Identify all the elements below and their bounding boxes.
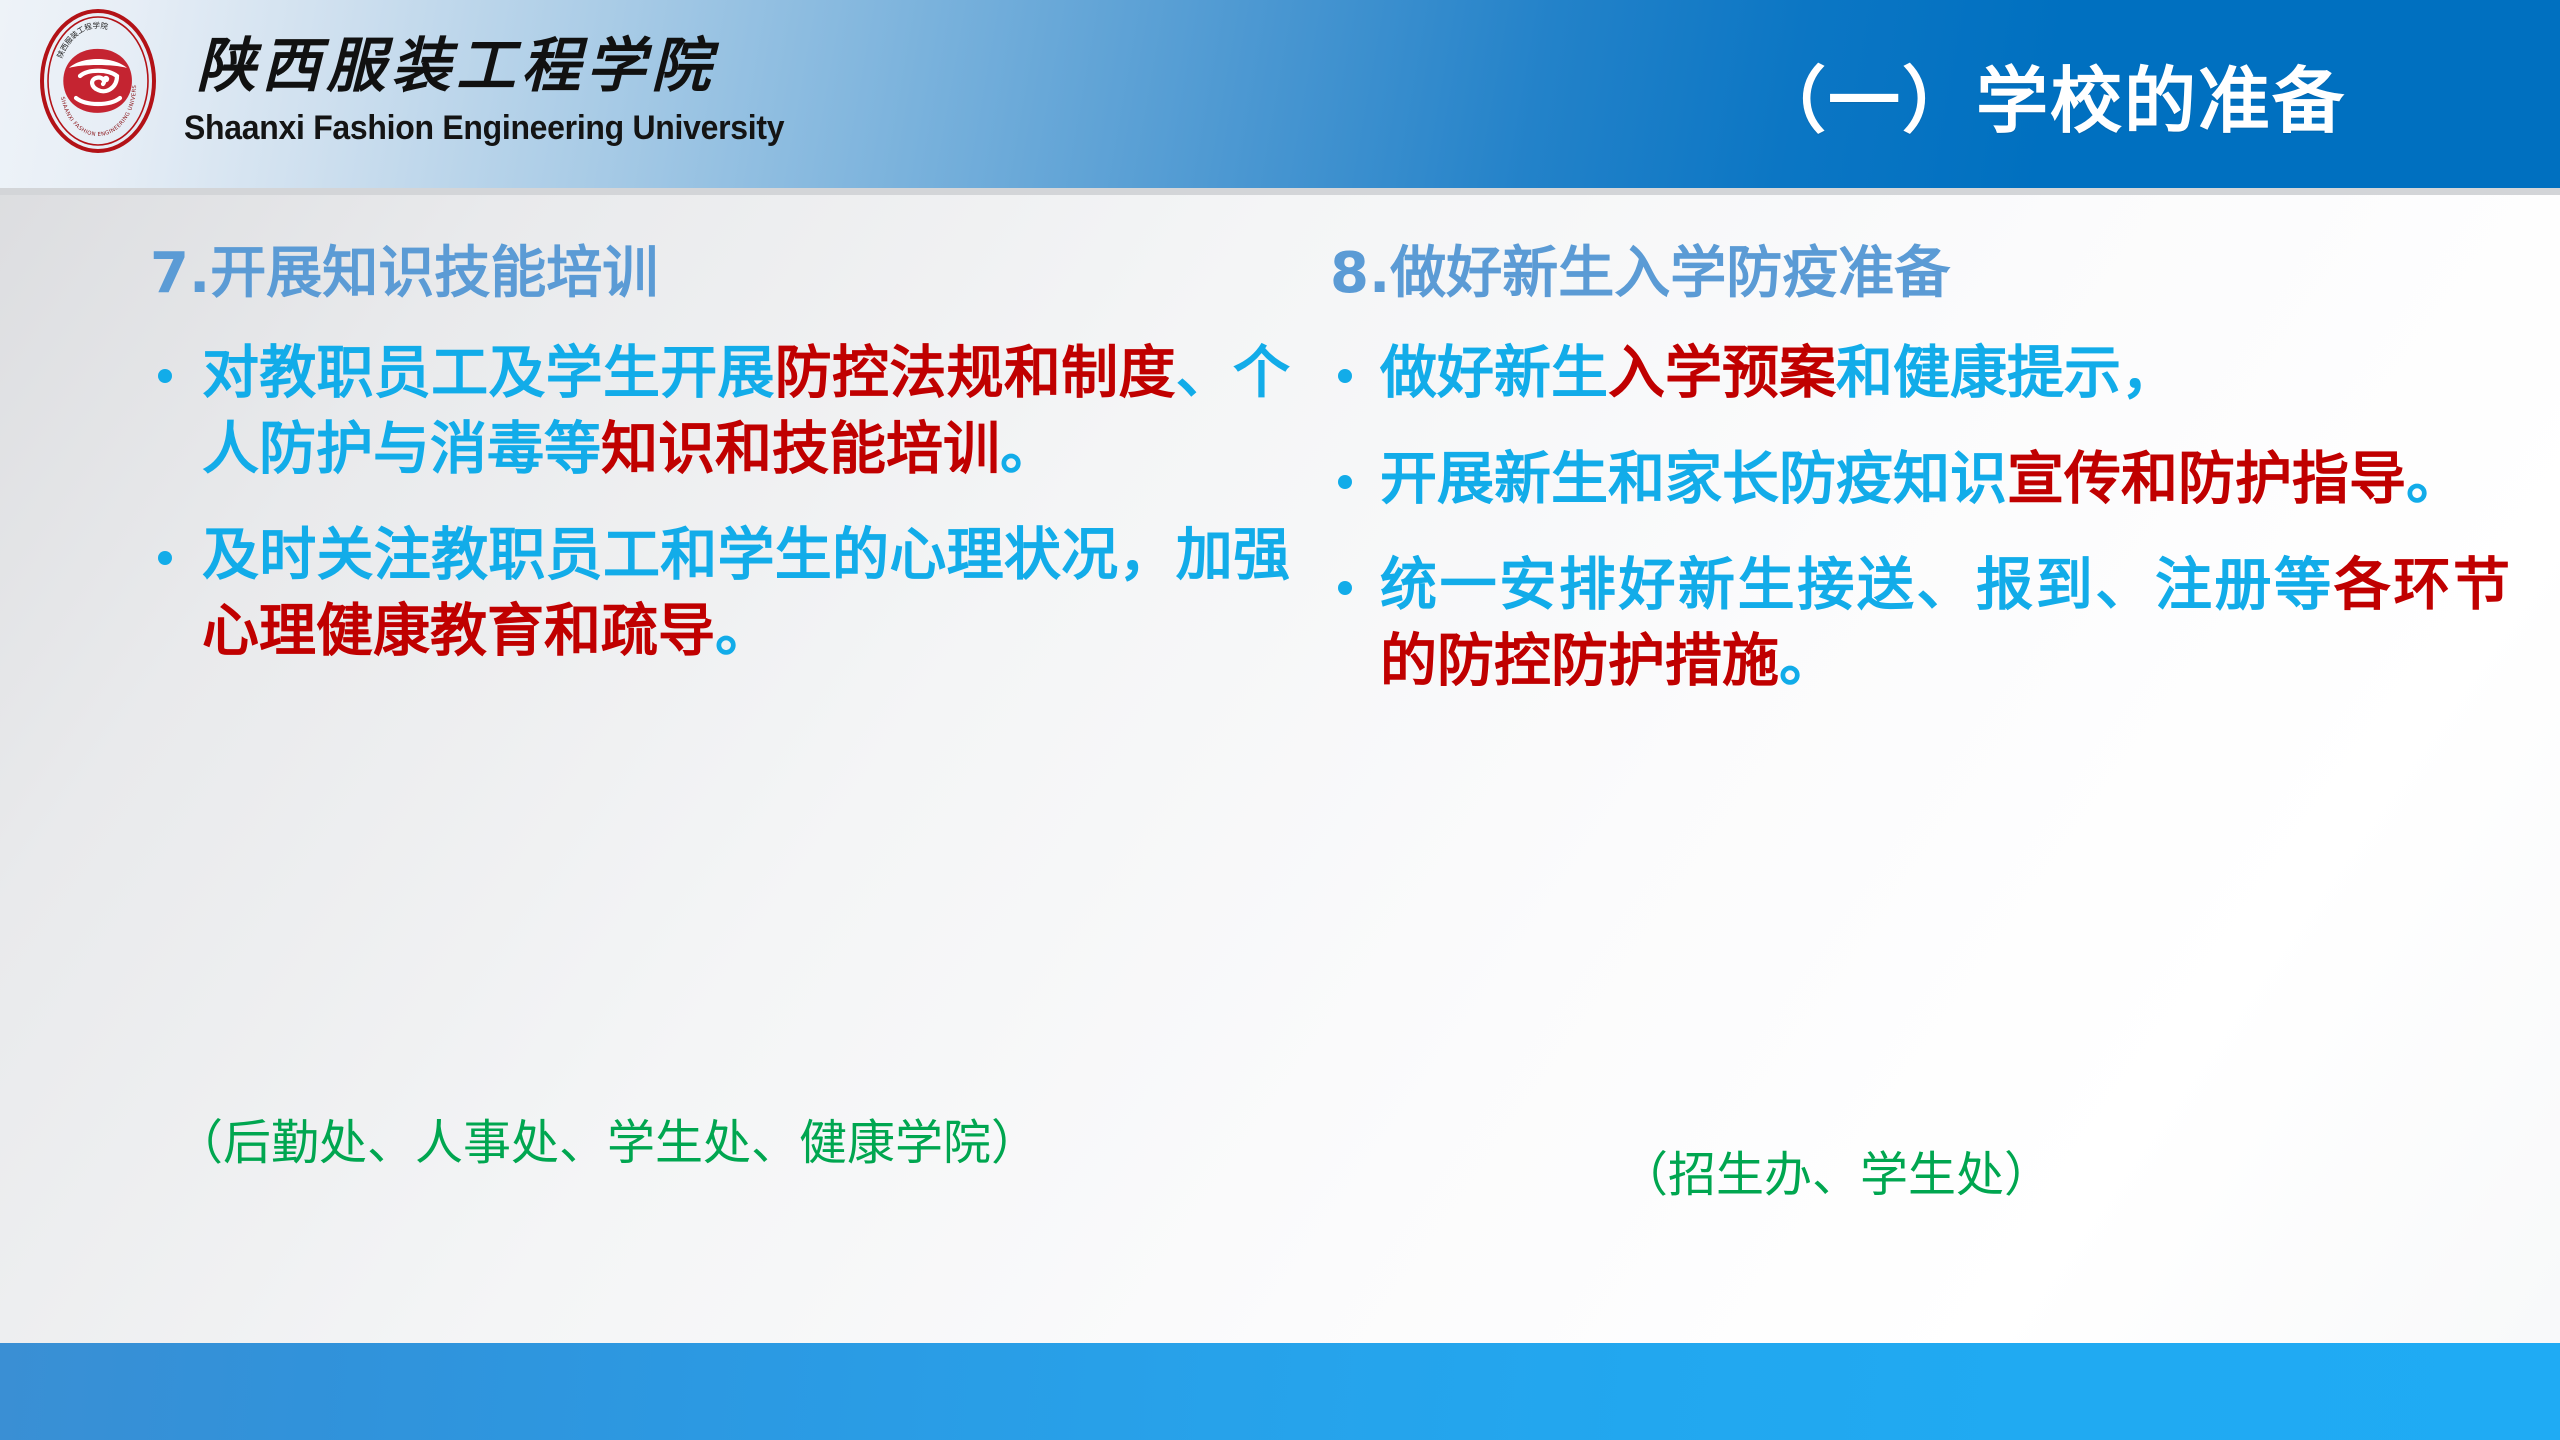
slide: 陕西服装工程学院 SHAANXI FASHION ENGINEERING UNI… (0, 0, 2560, 1440)
list-item: 对教职员工及学生开展防控法规和制度、个人防护与消毒等知识和技能培训。 (150, 336, 1290, 488)
list-item: 开展新生和家长防疫知识宣传和防护指导。 (1330, 442, 2510, 518)
decorative-bottom-bar (0, 1343, 2560, 1440)
header-divider (0, 188, 2560, 195)
content-column-right: 8.做好新生入学防疫准备 做好新生入学预案和健康提示， 开展新生和家长防疫知识宣… (1330, 195, 2510, 700)
text-segment: 。 (2406, 446, 2463, 512)
text-segment: 。 (1000, 416, 1057, 482)
department-note-right: （招生办、学生处） (1620, 1135, 2052, 1205)
department-note-left: （后勤处、人事处、学生处、健康学院） (175, 1103, 1039, 1173)
university-name-cn-text: 陕西服装工程学院 (196, 30, 720, 100)
column-right-heading: 8.做好新生入学防疫准备 (1330, 242, 2510, 306)
text-segment-emphasis: 入学预案 (1608, 340, 1836, 406)
text-segment-emphasis: 防控法规和制度 (775, 340, 1176, 406)
list-item: 统一安排好新生接送、报到、注册等各环节的防控防护措施。 (1330, 548, 2510, 700)
text-segment-emphasis: 心理健康教育和疏导 (202, 598, 715, 664)
text-segment: 。 (1779, 628, 1836, 694)
text-segment: 统一安排好新生接送、报到、注册等 (1380, 552, 2334, 618)
column-left-heading: 7.开展知识技能培训 (150, 242, 1290, 306)
university-name-en: Shaanxi Fashion Engineering University (184, 111, 784, 145)
list-item: 做好新生入学预案和健康提示， (1330, 336, 2510, 412)
text-segment: 。 (715, 598, 772, 664)
slide-title: （一）学校的准备 (1754, 0, 2346, 188)
university-name-cn-calligraphy: 陕西服装工程学院 (184, 23, 744, 109)
text-segment-emphasis: 宣传和防护指导 (2007, 446, 2406, 512)
text-segment-emphasis: 知识和技能培训 (601, 416, 1000, 482)
text-segment: 做好新生 (1380, 340, 1608, 406)
text-segment: 开展新生和家长防疫知识 (1380, 446, 2007, 512)
text-segment: 和健康提示， (1836, 340, 2178, 406)
list-item: 及时关注教职员工和学生的心理状况，加强心理健康教育和疏导。 (150, 518, 1290, 670)
text-segment: 及时关注教职员工和学生的心理状况，加强 (202, 522, 1290, 588)
column-right-bullet-list: 做好新生入学预案和健康提示， 开展新生和家长防疫知识宣传和防护指导。 统一安排好… (1330, 336, 2510, 699)
content-column-left: 7.开展知识技能培训 对教职员工及学生开展防控法规和制度、个人防护与消毒等知识和… (150, 195, 1290, 670)
slide-header: 陕西服装工程学院 SHAANXI FASHION ENGINEERING UNI… (0, 0, 2560, 188)
university-seal-logo: 陕西服装工程学院 SHAANXI FASHION ENGINEERING UNI… (36, 6, 160, 156)
university-branding: 陕西服装工程学院 SHAANXI FASHION ENGINEERING UNI… (36, 6, 823, 156)
slide-body: 7.开展知识技能培训 对教职员工及学生开展防控法规和制度、个人防护与消毒等知识和… (0, 195, 2560, 1343)
column-left-bullet-list: 对教职员工及学生开展防控法规和制度、个人防护与消毒等知识和技能培训。 及时关注教… (150, 336, 1290, 669)
university-wordmark: 陕西服装工程学院 Shaanxi Fashion Engineering Uni… (184, 17, 823, 145)
text-segment: 对教职员工及学生开展 (202, 340, 775, 406)
